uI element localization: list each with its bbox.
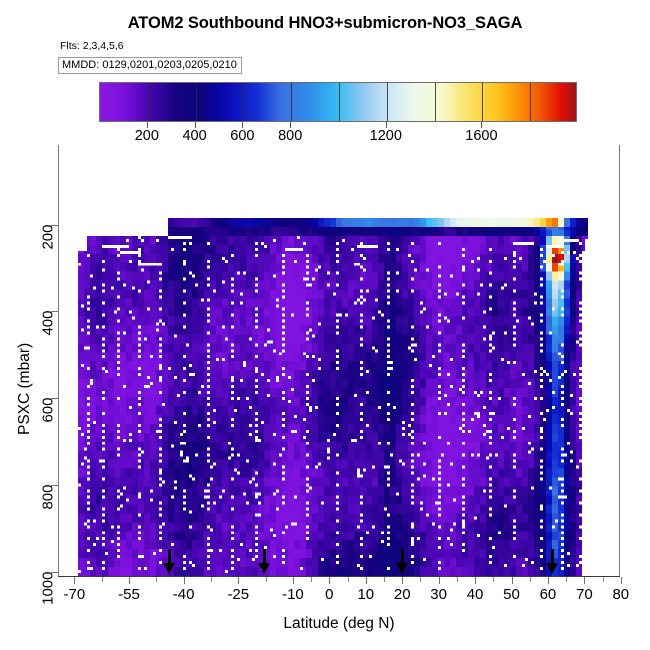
x-axis-tick xyxy=(184,577,185,584)
y-axis-tick-label: 800 xyxy=(40,484,57,554)
x-axis-minor-tick xyxy=(266,577,267,582)
x-axis-minor-tick xyxy=(530,577,531,582)
x-axis-tick xyxy=(293,577,294,584)
x-axis-tick xyxy=(129,577,130,584)
colorbar: 20040060080012001600 xyxy=(99,82,577,122)
mmdd-label: MMDD: 0129,0201,0203,0205,0210 xyxy=(58,57,242,74)
colorbar-tick-label: 1600 xyxy=(451,128,511,144)
colorbar-strip xyxy=(99,82,577,122)
plot-area: 2004006008001000 PSXC (mbar) -70-55-40-2… xyxy=(58,145,620,577)
y-axis-title: PSXC (mbar) xyxy=(16,343,34,435)
axis-line-right xyxy=(619,145,620,577)
x-axis-minor-tick xyxy=(566,577,567,582)
latitude-marker-arrow xyxy=(546,549,559,575)
x-axis-tick xyxy=(548,577,549,584)
colorbar-division xyxy=(482,83,483,121)
y-axis-tick-label: 1000 xyxy=(40,571,57,641)
colorbar-tick-label: 800 xyxy=(260,128,320,144)
x-axis-tick xyxy=(238,577,239,584)
page-title: ATOM2 Southbound HNO3+submicron-NO3_SAGA xyxy=(0,14,650,33)
x-axis-tick xyxy=(621,577,622,584)
colorbar-division xyxy=(291,83,292,121)
x-axis-tick xyxy=(439,577,440,584)
x-axis-minor-tick xyxy=(603,577,604,582)
colorbar-division xyxy=(243,83,244,121)
figure-root: ATOM2 Southbound HNO3+submicron-NO3_SAGA… xyxy=(0,0,650,650)
x-axis-minor-tick xyxy=(102,577,103,582)
x-axis-tick xyxy=(329,577,330,584)
x-axis-tick-label: -40 xyxy=(154,586,214,603)
x-axis-tick-label: -25 xyxy=(208,586,268,603)
x-axis-minor-tick xyxy=(211,577,212,582)
x-axis-tick-label: 80 xyxy=(591,586,650,603)
x-axis-tick xyxy=(74,577,75,584)
colorbar-tick-label: 1200 xyxy=(356,128,416,144)
x-axis-tick xyxy=(475,577,476,584)
flights-label: Flts: 2,3,4,5,6 xyxy=(60,40,124,52)
x-axis-minor-tick xyxy=(457,577,458,582)
colorbar-division xyxy=(148,83,149,121)
axis-line-left xyxy=(58,145,59,577)
colorbar-division xyxy=(196,83,197,121)
x-axis-tick xyxy=(584,577,585,584)
latitude-marker-arrow xyxy=(163,549,176,575)
colorbar-division xyxy=(530,83,531,121)
x-axis-tick xyxy=(402,577,403,584)
x-axis-minor-tick xyxy=(348,577,349,582)
colorbar-division xyxy=(435,83,436,121)
colorbar-division xyxy=(387,83,388,121)
x-axis-minor-tick xyxy=(311,577,312,582)
x-axis-minor-tick xyxy=(420,577,421,582)
x-axis-minor-tick xyxy=(493,577,494,582)
x-axis-title: Latitude (deg N) xyxy=(58,615,620,633)
y-axis-tick-label: 600 xyxy=(40,398,57,468)
x-axis-tick-label: -55 xyxy=(99,586,159,603)
x-axis-minor-tick xyxy=(156,577,157,582)
x-axis-tick xyxy=(366,577,367,584)
heatmap-raster xyxy=(78,218,588,576)
x-axis-tick-label: -70 xyxy=(44,586,104,603)
x-axis-tick xyxy=(512,577,513,584)
y-axis-tick-label: 200 xyxy=(40,224,57,294)
x-axis-minor-tick xyxy=(384,577,385,582)
colorbar-gradient xyxy=(100,83,576,121)
latitude-marker-arrow xyxy=(396,549,409,575)
axis-line-bottom xyxy=(58,576,620,577)
latitude-marker-arrow xyxy=(258,549,271,575)
colorbar-division xyxy=(339,83,340,121)
y-axis-tick-label: 400 xyxy=(40,311,57,381)
